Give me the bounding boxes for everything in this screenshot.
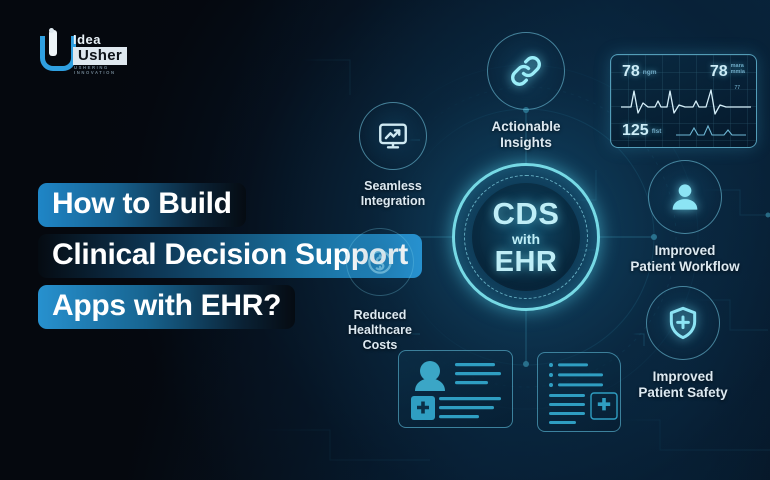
headline-line-3: Apps with EHR? — [38, 285, 295, 329]
feature-label-line2: Patient Workflow — [620, 259, 750, 275]
monitor-reading-top-left: 78 — [622, 63, 640, 80]
feature-improved-patient-safety[interactable]: Improved Patient Safety — [618, 286, 748, 401]
brand-logo[interactable]: Idea Usher USHERING INNOVATION — [40, 28, 144, 72]
poster-canvas: Idea Usher USHERING INNOVATION How to Bu… — [0, 0, 770, 480]
patient-record-icon — [399, 351, 512, 427]
monitor-chart-icon — [359, 102, 427, 170]
u-logo-icon-stem — [49, 30, 57, 56]
monitor-unit-top-right-l2: mmia — [731, 69, 745, 75]
brand-name-top: Idea — [73, 32, 101, 47]
headline-line-1: How to Build — [38, 183, 246, 227]
central-hub: CDS with EHR — [452, 163, 600, 311]
monitor-reading-top-right: 78 — [710, 63, 728, 80]
monitor-unit-bottom-left: flst — [652, 128, 662, 135]
feature-label-line2: Insights — [476, 135, 576, 151]
hub-connector: with — [512, 231, 540, 247]
feature-label-line1: Improved — [620, 243, 750, 259]
brand-name-bottom: Usher — [73, 47, 127, 65]
feature-label-line2: Integration — [343, 194, 443, 209]
feature-label-line1: Improved — [618, 369, 748, 385]
vital-signs-monitor: 78ngm 78marammia 77 125flst — [610, 54, 757, 148]
feature-seamless-integration[interactable]: Seamless Integration — [343, 102, 443, 209]
feature-label-line1: Seamless — [343, 179, 443, 194]
link-chain-icon — [487, 32, 565, 110]
patient-record-card — [398, 350, 513, 428]
hub-subtitle: EHR — [495, 248, 558, 277]
hub-title: CDS — [493, 198, 560, 229]
feature-label-line2: Patient Safety — [618, 385, 748, 401]
monitor-reading-bottom-left: 125 — [622, 122, 649, 139]
cost-savings-icon — [346, 228, 414, 296]
feature-actionable-insights[interactable]: Actionable Insights — [476, 32, 576, 151]
feature-label-line1: Reduced — [330, 308, 430, 323]
feature-improved-patient-workflow[interactable]: Improved Patient Workflow — [620, 160, 750, 275]
ecg-waveform-icon — [611, 81, 756, 121]
shield-plus-icon — [646, 286, 720, 360]
brand-tagline: USHERING INNOVATION — [74, 65, 144, 75]
u-logo-icon-dot — [49, 28, 54, 33]
monitor-unit-top-left: ngm — [643, 69, 657, 76]
medical-document-card — [537, 352, 621, 432]
feature-reduced-healthcare-costs[interactable]: Reduced Healthcare Costs — [330, 228, 430, 352]
feature-label-line2: Healthcare — [330, 323, 430, 338]
secondary-waveform-icon — [676, 123, 746, 139]
medical-document-icon — [538, 353, 620, 431]
person-icon — [648, 160, 722, 234]
u-logo-icon — [40, 36, 76, 71]
feature-label-line1: Actionable — [476, 119, 576, 135]
